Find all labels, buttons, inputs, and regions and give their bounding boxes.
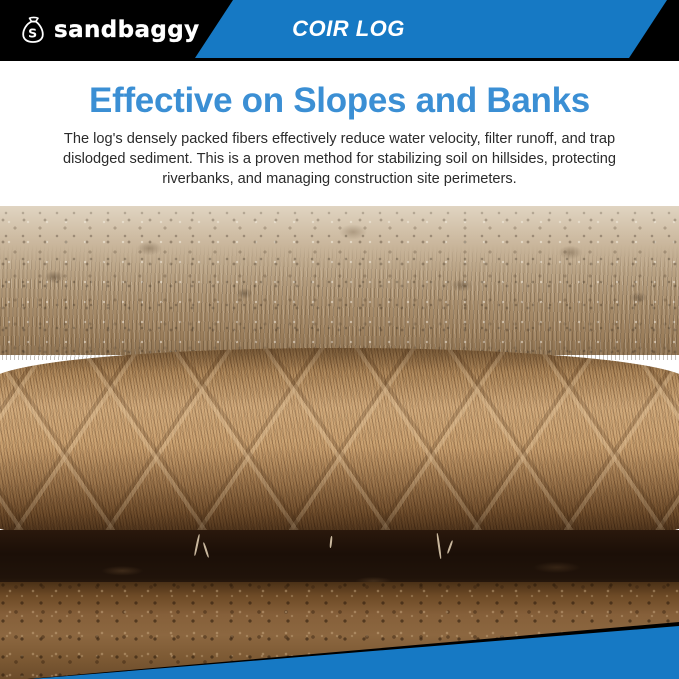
coir-log-shading <box>0 348 679 548</box>
text-panel: Effective on Slopes and Banks The log's … <box>0 61 679 206</box>
header-bar: COIR LOG S sandbaggy <box>0 0 679 58</box>
product-photo <box>0 150 679 679</box>
photo-upper-soil-fringe <box>0 245 679 360</box>
description-text: The log's densely packed fibers effectiv… <box>0 120 679 189</box>
brand-logo[interactable]: S sandbaggy <box>18 13 200 47</box>
sandbag-icon: S <box>18 15 48 45</box>
product-infographic: COIR LOG S sandbaggy <box>0 0 679 679</box>
svg-text:S: S <box>28 25 37 40</box>
photo-canvas <box>0 150 679 679</box>
brand-logo-text: sandbaggy <box>54 19 200 42</box>
page-title: Effective on Slopes and Banks <box>0 61 679 120</box>
